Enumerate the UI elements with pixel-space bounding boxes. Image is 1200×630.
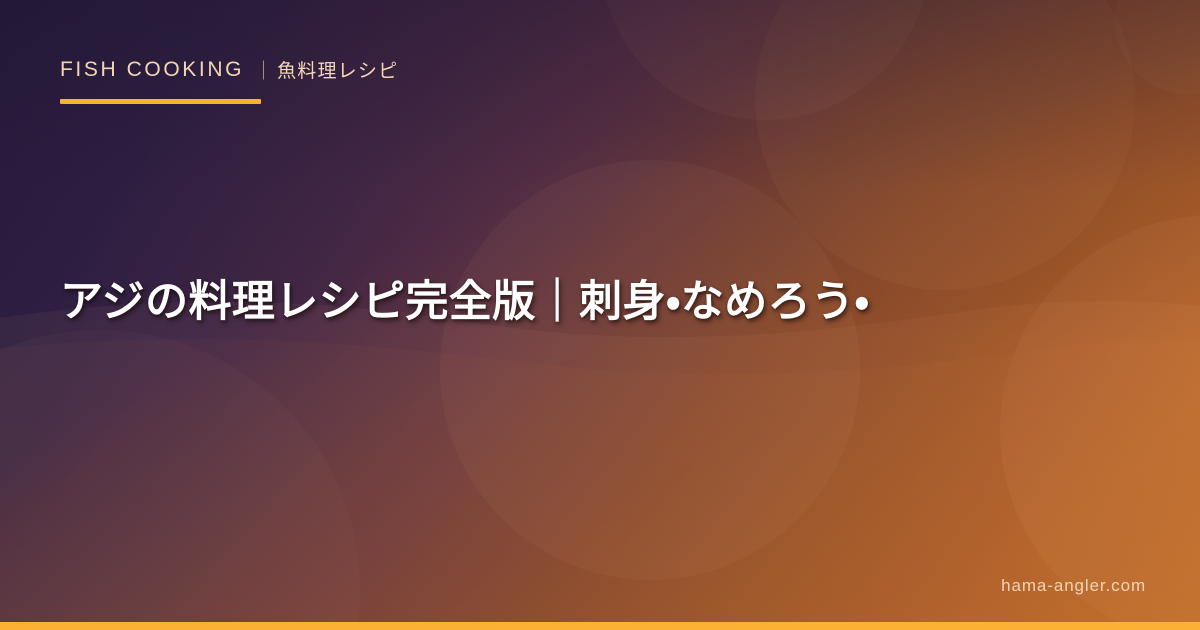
bottom-accent-bar xyxy=(0,622,1200,630)
og-card: FISH COOKING ｜ 魚料理レシピ アジの料理レシピ完全版｜刺身・なめろ… xyxy=(0,0,1200,630)
eyebrow-separator: ｜ xyxy=(254,56,273,83)
eyebrow-category: FISH COOKING ｜ 魚料理レシピ xyxy=(60,56,398,83)
site-url: hama-angler.com xyxy=(1001,576,1146,596)
page-title: アジの料理レシピ完全版｜刺身・なめろう・ xyxy=(60,272,1140,333)
eyebrow-label-ja: 魚料理レシピ xyxy=(277,56,398,83)
eyebrow-underline-rule xyxy=(60,99,261,104)
eyebrow-label-en: FISH COOKING xyxy=(60,58,244,82)
